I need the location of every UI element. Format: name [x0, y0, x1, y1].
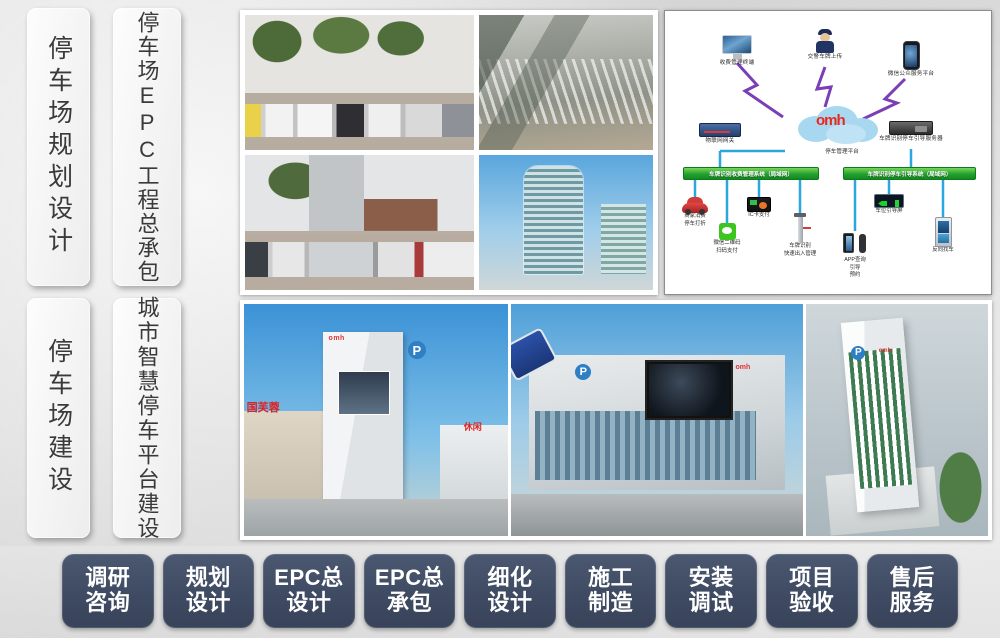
- diagram-node-iot-gateway: 物联网网关: [677, 123, 763, 146]
- app-user-icon: [843, 231, 867, 257]
- kiosk-icon: [935, 217, 952, 247]
- render-sign-right: 休闲: [464, 420, 482, 433]
- node-label: 物联网网关: [706, 138, 735, 146]
- process-button-research-consult[interactable]: 调研 咨询: [62, 554, 154, 628]
- ic-card-icon: [747, 197, 771, 212]
- leaf-label: IC卡支付: [748, 212, 770, 220]
- node-label: 微信公众服务平台: [888, 71, 934, 79]
- process-button-construction[interactable]: 施工 制造: [565, 554, 657, 628]
- render-sign-left: 国芙蓉: [247, 399, 280, 415]
- diagram-leaf-space-guidance-screen: 车位引导屏: [857, 194, 921, 216]
- photo-lot-brick-building: [245, 155, 474, 290]
- photo-glass-tower: [479, 155, 653, 290]
- render-ground: [511, 494, 803, 536]
- smartphone-icon: [903, 41, 920, 70]
- render-parking-tower: omh P 国芙蓉 休闲: [244, 304, 508, 536]
- server-icon: [889, 121, 933, 135]
- process-button-detailed-design[interactable]: 细化 设计: [464, 554, 556, 628]
- system-bar-label: 车牌识别停车引导系统（局域网）: [868, 170, 952, 178]
- system-bar-lpr-toll: 车牌识别收费管理系统（局域网）: [683, 167, 819, 180]
- process-button-epc-overall-design[interactable]: EPC总 设计: [263, 554, 355, 628]
- led-screen-icon: [874, 194, 904, 208]
- brand-logo: omh: [736, 364, 751, 371]
- leaf-label: 车位引导屏: [876, 208, 903, 216]
- process-button-project-acceptance[interactable]: 项目 验收: [766, 554, 858, 628]
- rendering-strip: omh P 国芙蓉 休闲 P omh P omh: [240, 300, 992, 540]
- system-bar-lpr-guidance: 车牌识别停车引导系统（局域网）: [843, 167, 976, 180]
- leaf-label: APP查询 引导 预约: [844, 257, 866, 280]
- diagram-node-wechat-platform: 微信公众服务平台: [868, 41, 954, 79]
- diagram-leaf-reverse-car-finding: 反向找车: [911, 217, 975, 255]
- photo-aerial-parking: [479, 15, 653, 150]
- render-building-left: [244, 411, 323, 504]
- diagram-node-toll-terminal: 收费管理终端: [694, 35, 780, 68]
- cloud-brand-logo: omh: [816, 112, 845, 129]
- sidebar-card-label: 停车场建设: [45, 338, 71, 498]
- render-glass-facade: [535, 411, 757, 481]
- node-label: 车牌识别停车引导服务器: [879, 136, 943, 144]
- sidebar-card-epc-contracting[interactable]: 停车场EPC工程总承包: [113, 8, 181, 286]
- process-button-row: 调研 咨询 规划 设计 EPC总 设计 EPC总 承包 细化 设计 施工 制造 …: [62, 554, 958, 628]
- parking-p-icon: P: [851, 346, 865, 360]
- diagram-node-traffic-police: 交警车牌上传: [782, 29, 868, 62]
- sidebar-card-planning-design[interactable]: 停车场规划设计: [27, 8, 90, 286]
- slide-canvas: 停车场规划设计 停车场EPC工程总承包 停车场建设 城市智慧停车平台建设 omh…: [0, 0, 1000, 638]
- police-officer-icon: [815, 29, 835, 53]
- leaf-label: 微信二维码 扫码支付: [714, 240, 741, 255]
- router-icon: [699, 123, 741, 137]
- diagram-leaf-wechat-qr-pay: 微信二维码 扫码支付: [695, 223, 759, 255]
- brand-logo: omh: [329, 335, 345, 342]
- sidebar-card-label: 停车场规划设计: [45, 35, 71, 259]
- barrier-gate-icon: [789, 213, 811, 243]
- render-garage-billboard: P omh: [511, 304, 803, 536]
- photo-collage: [240, 10, 658, 295]
- leaf-label: 反向找车: [932, 247, 954, 255]
- diagram-leaf-app-query: APP查询 引导 预约: [823, 231, 887, 280]
- monitor-icon: [722, 35, 752, 59]
- sidebar-card-label: 停车场EPC工程总承包: [135, 11, 158, 284]
- render-tower-body: [323, 332, 402, 508]
- cloud-platform-label: 停车管理平台: [796, 147, 888, 155]
- node-label: 收费管理终端: [720, 60, 755, 68]
- render-building-right: [440, 425, 509, 504]
- cloud-platform-icon: omh: [796, 104, 888, 146]
- sidebar-card-smart-platform[interactable]: 城市智慧停车平台建设: [113, 298, 181, 538]
- sidebar-card-construction[interactable]: 停车场建设: [27, 298, 90, 538]
- photo-parking-lot-trees: [245, 15, 474, 150]
- node-label: 交警车牌上传: [808, 54, 843, 62]
- render-led-billboard: [645, 360, 732, 420]
- process-button-installation[interactable]: 安装 调试: [665, 554, 757, 628]
- wechat-icon: [719, 223, 736, 240]
- render-ground: [244, 499, 508, 536]
- system-bar-label: 车牌识别收费管理系统（局域网）: [709, 170, 793, 178]
- process-button-epc-contracting[interactable]: EPC总 承包: [364, 554, 456, 628]
- sidebar-card-label: 城市智慧停车平台建设: [135, 296, 158, 541]
- process-button-after-sales-service[interactable]: 售后 服务: [867, 554, 959, 628]
- system-architecture-diagram: 收费管理终端 交警车牌上传 微信公众服务平台 物联网网关 车牌识别停车引导服务器: [664, 10, 992, 295]
- render-aerial-tower: P omh: [806, 304, 988, 536]
- red-car-icon: [682, 197, 708, 213]
- process-button-planning-design[interactable]: 规划 设计: [163, 554, 255, 628]
- render-greenery: [937, 448, 984, 527]
- leaf-label: 车牌识别 快速出入管理: [784, 243, 816, 258]
- parking-p-icon: P: [408, 341, 426, 359]
- brand-logo: omh: [879, 348, 892, 354]
